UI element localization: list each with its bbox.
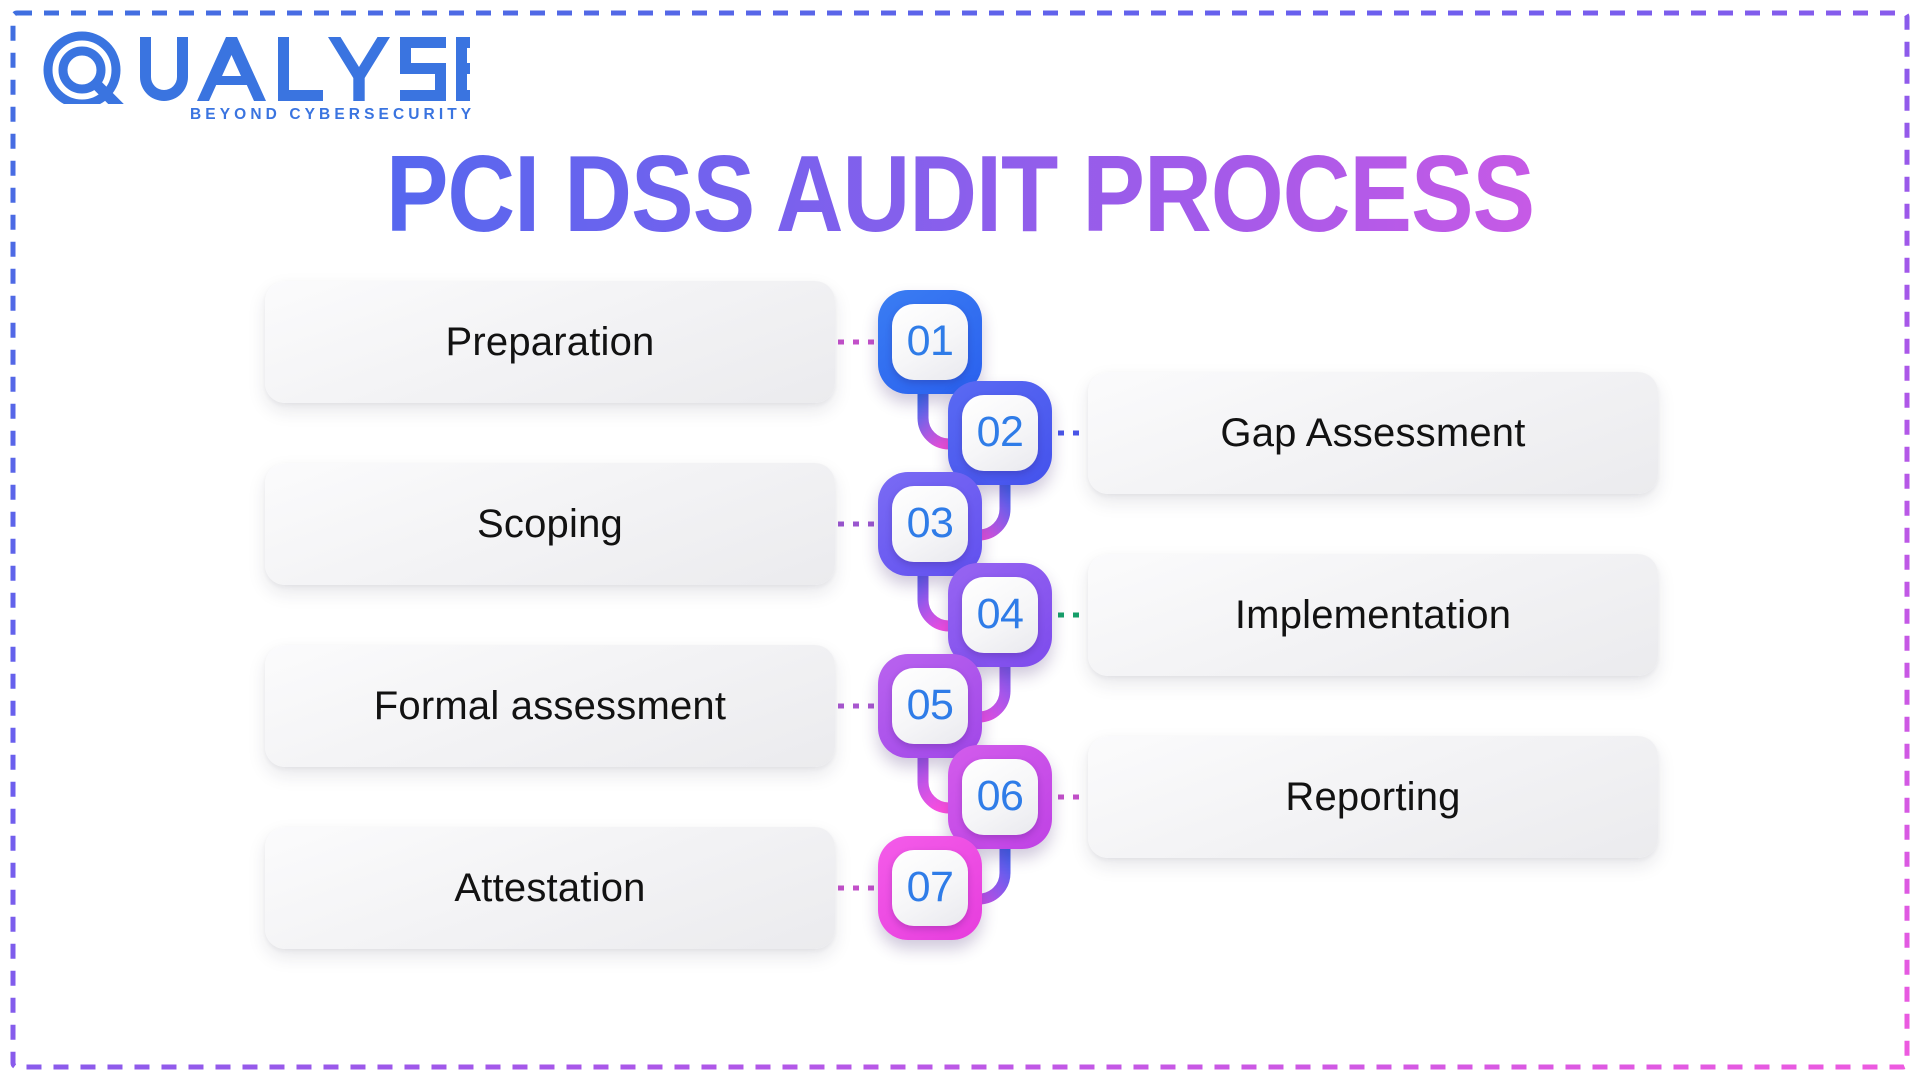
step-label: Reporting	[1285, 775, 1460, 820]
badge-number: 02	[977, 408, 1024, 457]
badge-number: 04	[977, 590, 1024, 639]
badge-number: 06	[977, 772, 1024, 821]
step-label: Gap Assessment	[1220, 411, 1525, 456]
badge-number: 05	[907, 681, 954, 730]
step-card-attestation[interactable]: Attestation	[265, 827, 835, 949]
badge-inner: 07	[892, 850, 968, 926]
step-card-gap-assessment[interactable]: Gap Assessment	[1088, 372, 1658, 494]
step-card-formal-assessment[interactable]: Formal assessment	[265, 645, 835, 767]
step-label: Preparation	[446, 320, 655, 365]
step-badge-01[interactable]: 01	[878, 290, 982, 394]
step-badge-02[interactable]: 02	[948, 381, 1052, 485]
brand-tagline: BEYOND CYBERSECURITY	[190, 106, 475, 124]
infographic-canvas: BEYOND CYBERSECURITY PCI DSS AUDIT PROCE…	[0, 0, 1920, 1080]
step-card-reporting[interactable]: Reporting	[1088, 736, 1658, 858]
badge-number: 03	[907, 499, 954, 548]
step-card-implementation[interactable]: Implementation	[1088, 554, 1658, 676]
step-label: Formal assessment	[374, 684, 726, 729]
badge-inner: 05	[892, 668, 968, 744]
badge-number: 01	[907, 317, 954, 366]
qualysec-wordmark-icon	[40, 28, 470, 104]
brand-logo: BEYOND CYBERSECURITY	[40, 28, 470, 128]
badge-inner: 01	[892, 304, 968, 380]
step-label: Attestation	[454, 866, 645, 911]
step-card-scoping[interactable]: Scoping	[265, 463, 835, 585]
step-badge-06[interactable]: 06	[948, 745, 1052, 849]
badge-number: 07	[907, 863, 954, 912]
step-label: Implementation	[1235, 593, 1511, 638]
step-badge-05[interactable]: 05	[878, 654, 982, 758]
step-badge-07[interactable]: 07	[878, 836, 982, 940]
badge-inner: 06	[962, 759, 1038, 835]
badge-inner: 02	[962, 395, 1038, 471]
step-badge-04[interactable]: 04	[948, 563, 1052, 667]
badge-inner: 03	[892, 486, 968, 562]
step-card-preparation[interactable]: Preparation	[265, 281, 835, 403]
step-label: Scoping	[477, 502, 623, 547]
step-badge-03[interactable]: 03	[878, 472, 982, 576]
process-flow: Preparation Gap Assessment Scoping Imple…	[0, 290, 1920, 1010]
badge-inner: 04	[962, 577, 1038, 653]
page-title: PCI DSS AUDIT PROCESS	[0, 140, 1920, 249]
